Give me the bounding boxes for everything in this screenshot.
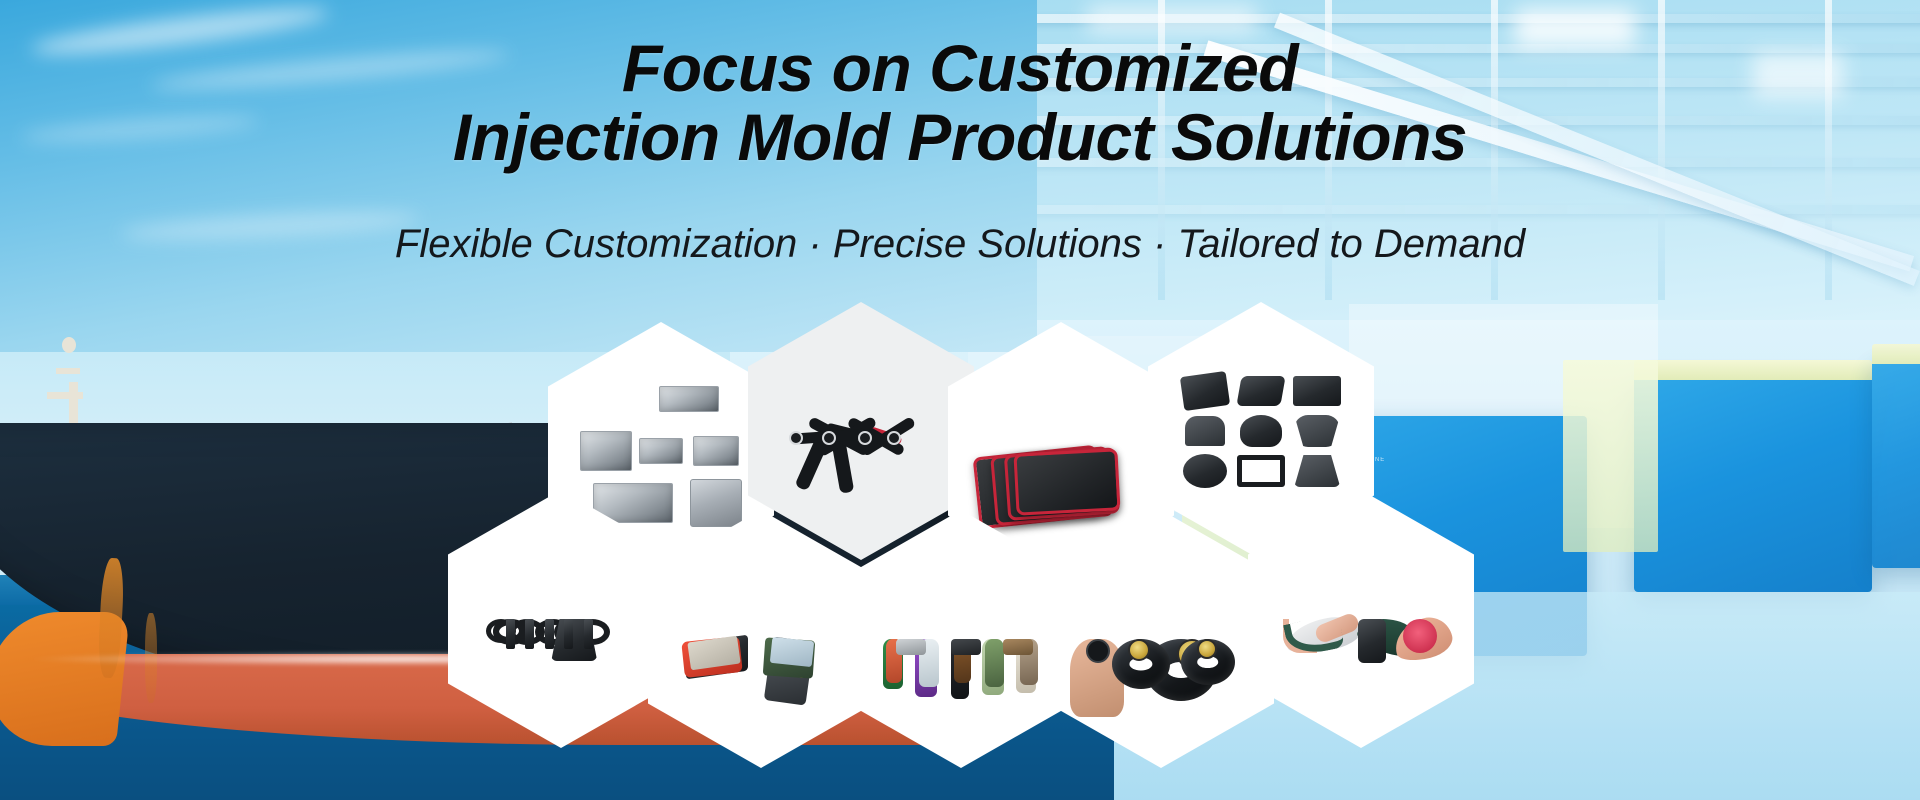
bracket-part <box>1237 455 1285 487</box>
plastic-screw <box>564 619 573 649</box>
injection-molding-machine-3 <box>1872 360 1920 568</box>
bracket-part <box>1294 455 1340 487</box>
serving-tray <box>1014 448 1121 515</box>
ring-badge <box>1086 639 1110 663</box>
mold-part <box>639 438 683 464</box>
brush-housing <box>1358 619 1386 663</box>
bracket-part <box>1293 376 1341 406</box>
headline-line-1: Focus on Customized <box>0 34 1920 103</box>
injection-molding-machine-2 <box>1634 376 1872 592</box>
mold-part <box>580 431 632 471</box>
stroller-wheel <box>887 431 901 445</box>
circuit-panel <box>770 637 814 667</box>
mold-part <box>659 386 719 412</box>
hero-banner: HAITIAN INJECTION MACHINE <box>0 0 1920 800</box>
jar-lid <box>951 639 981 655</box>
jar-lid <box>1003 639 1033 655</box>
headline-line-2: Injection Mold Product Solutions <box>0 103 1920 172</box>
jar-lid <box>896 639 926 655</box>
bracket-part <box>1240 415 1282 447</box>
banner-headline: Focus on Customized Injection Mold Produ… <box>0 34 1920 173</box>
banner-subheadline: Flexible Customization · Precise Solutio… <box>0 222 1920 267</box>
stroller-wheel <box>822 431 836 445</box>
plastic-screw <box>525 619 534 649</box>
bracket-part <box>1294 415 1340 447</box>
mold-base-block <box>690 479 742 527</box>
bracket-part <box>1185 416 1225 446</box>
stroller-wheel <box>858 431 872 445</box>
textured-bottle <box>985 639 1004 687</box>
plastic-screw <box>545 619 554 649</box>
ring-gold-dial <box>1197 639 1217 659</box>
bracket-part <box>1180 371 1230 411</box>
mold-part <box>693 436 739 466</box>
plastic-screw <box>584 619 593 649</box>
plastic-screw <box>506 619 515 649</box>
bracket-part <box>1236 376 1285 406</box>
bracket-part <box>1183 454 1227 488</box>
